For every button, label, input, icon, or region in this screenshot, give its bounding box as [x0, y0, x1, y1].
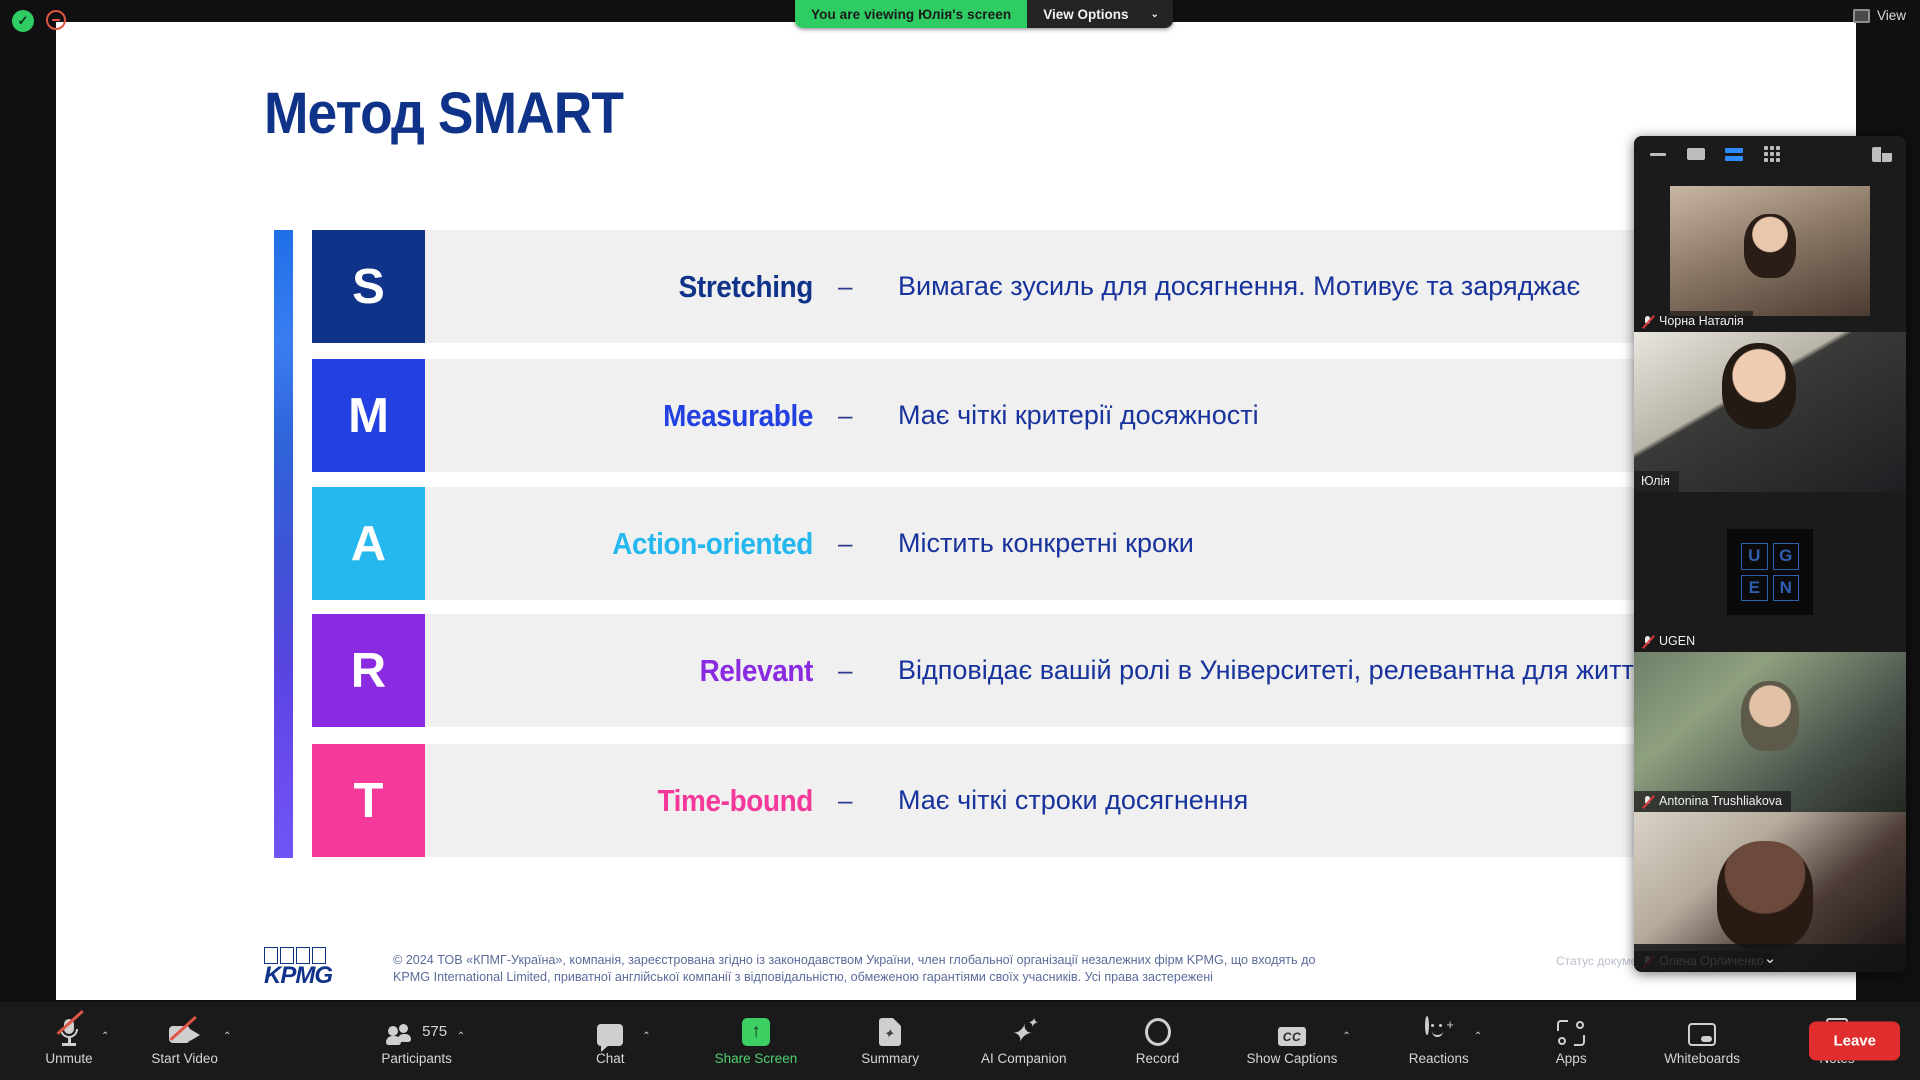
zoom-meeting-window: ✓ You are viewing Юлія's screen View Opt… [0, 0, 1920, 1080]
reactions-button[interactable]: + Reactions [1409, 1016, 1469, 1066]
share-screen-button[interactable]: Share Screen [715, 1016, 798, 1066]
leave-meeting-button[interactable]: Leave [1809, 1022, 1900, 1061]
ai-companion-button[interactable]: ✦✦ AI Companion [981, 1016, 1067, 1066]
participant-tile[interactable]: U G E N UGEN [1634, 492, 1906, 652]
captions-caret-icon[interactable]: ⌃ [1342, 1031, 1350, 1042]
camera-off-icon [169, 1016, 201, 1046]
participants-button[interactable]: 575 Participants [381, 1016, 452, 1066]
row-keyword: Time-bound [516, 744, 813, 857]
view-options-label: View Options [1043, 7, 1128, 22]
microphone-muted-icon [56, 1016, 82, 1046]
participant-name: UGEN [1659, 634, 1695, 648]
audio-options-caret-icon[interactable]: ⌃ [101, 1031, 109, 1042]
apps-button[interactable]: Apps [1544, 1016, 1598, 1066]
video-control-group[interactable]: Start Video ⌃ [151, 1016, 231, 1066]
footer-copyright: © 2024 ТОВ «КПМГ-Україна», компанія, зар… [393, 952, 1343, 986]
show-more-participants-button[interactable]: ⌄ [1634, 944, 1906, 972]
chevron-down-icon: ⌄ [1150, 9, 1158, 20]
participant-name: Юлія [1641, 474, 1670, 488]
row-description: Має чіткі критерії досяжності [898, 359, 1259, 472]
row-keyword: Measurable [516, 359, 813, 472]
row-keyword: Relevant [516, 614, 813, 727]
participants-video-panel[interactable]: Чорна Наталія Юлія U G E N UGEN [1634, 136, 1906, 972]
minimize-icon[interactable] [1648, 146, 1668, 162]
participant-namebar: UGEN [1634, 631, 1704, 652]
unmute-button[interactable]: Unmute [42, 1016, 96, 1066]
shared-screen-content: Метод SMART S Stretching – Вимагає зусил… [56, 22, 1856, 1000]
share-screen-icon [742, 1016, 770, 1046]
captions-control-group[interactable]: CC Show Captions ⌃ [1247, 1016, 1351, 1066]
row-keyword: Stretching [516, 230, 813, 343]
show-captions-button[interactable]: CC Show Captions [1247, 1016, 1338, 1066]
whiteboards-button[interactable]: Whiteboards [1664, 1016, 1740, 1066]
row-dash: – [838, 614, 852, 727]
view-layout-button[interactable]: View [1853, 8, 1906, 23]
letter-tile: R [312, 614, 425, 727]
layout-grid-icon [1853, 9, 1870, 23]
row-description: Має чіткі строки досягнення [898, 744, 1248, 857]
grid-view-icon[interactable] [1762, 146, 1782, 162]
participant-video-thumbnail [1634, 652, 1906, 812]
speaker-view-icon[interactable] [1686, 146, 1706, 162]
whiteboard-icon [1688, 1016, 1716, 1046]
audio-control-group[interactable]: Unmute ⌃ [42, 1016, 109, 1066]
share-screen-label: Share Screen [715, 1051, 798, 1066]
cc-badge-text: CC [1278, 1027, 1306, 1046]
kpmg-wordmark: KPMG [264, 962, 330, 990]
closed-captions-icon: CC [1278, 1016, 1306, 1046]
start-video-label: Start Video [151, 1051, 218, 1066]
view-button-label: View [1877, 8, 1906, 23]
reactions-label: Reactions [1409, 1051, 1469, 1066]
row-keyword: Action-oriented [516, 487, 813, 600]
participant-video-thumbnail [1670, 186, 1870, 316]
gradient-accent-bar [274, 230, 293, 858]
people-icon: 575 [386, 1016, 447, 1046]
ugen-letter-u: U [1741, 543, 1768, 570]
row-description: Вимагає зусиль для досягнення. Мотивує т… [898, 230, 1580, 343]
slide-title: Метод SMART [264, 80, 623, 147]
video-options-caret-icon[interactable]: ⌃ [223, 1031, 231, 1042]
summary-label: Summary [861, 1051, 919, 1066]
participant-name: Чорна Наталія [1659, 314, 1744, 328]
record-circle-icon [1145, 1016, 1171, 1046]
apps-label: Apps [1556, 1051, 1587, 1066]
summary-document-icon [879, 1016, 901, 1046]
ugen-letter-n: N [1773, 575, 1800, 602]
letter-tile: T [312, 744, 425, 857]
row-description: Містить конкретні кроки [898, 487, 1194, 600]
participant-namebar: Чорна Наталія [1634, 311, 1753, 332]
view-options-button[interactable]: View Options ⌄ [1027, 0, 1173, 28]
participant-tile[interactable]: Чорна Наталія [1634, 172, 1906, 332]
ugen-avatar-logo: U G E N [1727, 529, 1813, 615]
participants-control-group[interactable]: 575 Participants ⌃ [381, 1016, 465, 1066]
unmute-label: Unmute [45, 1051, 92, 1066]
ugen-letter-e: E [1741, 575, 1768, 602]
participants-label: Participants [381, 1051, 452, 1066]
row-dash: – [838, 359, 852, 472]
ai-sparkle-icon: ✦✦ [1009, 1016, 1039, 1046]
kpmg-logo: KPMG [264, 947, 330, 990]
sharing-status-text: You are viewing Юлія's screen [795, 0, 1027, 28]
meeting-controls-toolbar: Unmute ⌃ Start Video ⌃ 575 Participants [0, 1002, 1920, 1080]
participant-tile[interactable]: Юлія [1634, 332, 1906, 492]
letter-tile: A [312, 487, 425, 600]
screen-sharing-banner: You are viewing Юлія's screen View Optio… [795, 0, 1173, 28]
chat-caret-icon[interactable]: ⌃ [642, 1031, 650, 1042]
row-description: Відповідає вашій ролі в Університеті, ре… [898, 614, 1648, 727]
popout-window-icon[interactable] [1872, 147, 1892, 162]
encryption-shield-icon[interactable]: ✓ [12, 10, 34, 32]
chat-button[interactable]: Chat [583, 1016, 637, 1066]
participants-caret-icon[interactable]: ⌃ [457, 1031, 465, 1042]
participant-tile[interactable]: Antonina Trushliakova [1634, 652, 1906, 812]
chat-bubble-icon [597, 1016, 623, 1046]
letter-tile: S [312, 230, 425, 343]
microphone-muted-icon [1641, 635, 1654, 648]
letter-tile: M [312, 359, 425, 472]
gallery-view-icon[interactable] [1724, 146, 1744, 162]
record-label: Record [1136, 1051, 1180, 1066]
row-dash: – [838, 230, 852, 343]
whiteboards-label: Whiteboards [1664, 1051, 1740, 1066]
participant-namebar: Antonina Trushliakova [1634, 791, 1791, 812]
reactions-caret-icon[interactable]: ⌃ [1474, 1031, 1482, 1042]
row-dash: – [838, 744, 852, 857]
chat-control-group[interactable]: Chat ⌃ [583, 1016, 650, 1066]
participant-namebar: Юлія [1634, 471, 1679, 492]
recording-indicator-icon[interactable] [46, 10, 66, 30]
show-captions-label: Show Captions [1247, 1051, 1338, 1066]
chat-label: Chat [596, 1051, 625, 1066]
participant-video-thumbnail [1634, 332, 1906, 492]
apps-icon [1557, 1016, 1585, 1046]
microphone-muted-icon [1641, 795, 1654, 808]
reactions-control-group[interactable]: + Reactions ⌃ [1409, 1016, 1482, 1066]
smiley-reaction-icon: + [1425, 1016, 1453, 1046]
ugen-letter-g: G [1773, 543, 1800, 570]
start-video-button[interactable]: Start Video [151, 1016, 218, 1066]
chevron-down-icon: ⌄ [1764, 949, 1777, 967]
participant-name: Antonina Trushliakova [1659, 794, 1782, 808]
ai-companion-label: AI Companion [981, 1051, 1067, 1066]
row-dash: – [838, 487, 852, 600]
summary-button[interactable]: Summary [861, 1016, 919, 1066]
participants-count: 575 [422, 1023, 447, 1040]
microphone-muted-icon [1641, 315, 1654, 328]
record-button[interactable]: Record [1131, 1016, 1185, 1066]
video-panel-toolbar [1634, 136, 1906, 172]
